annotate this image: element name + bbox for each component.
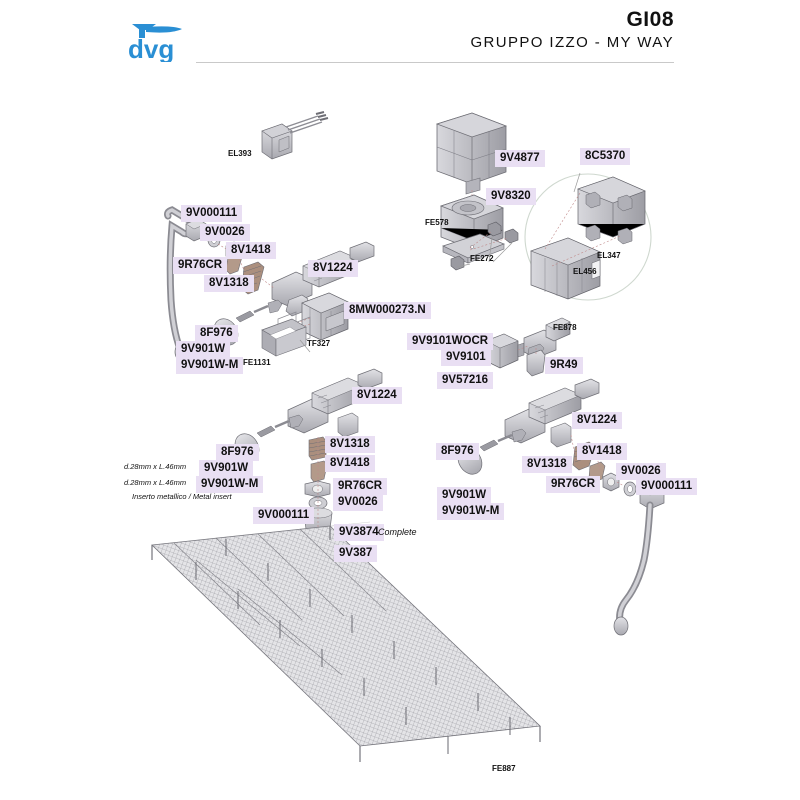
part-8mw000273n — [302, 293, 348, 340]
label-8v1224-center: 8V1224 — [352, 387, 402, 404]
label-9r76cr-top: 9R76CR — [173, 257, 227, 274]
part-el393 — [262, 112, 328, 159]
label-9v0026-top: 9V0026 — [200, 224, 250, 241]
header-divider — [196, 62, 674, 63]
label-8v1418-top: 8V1418 — [226, 242, 276, 259]
label-9v901w-top: 9V901W — [176, 341, 230, 358]
label-fe1131: FE1131 — [243, 358, 271, 368]
label-8v1418-center: 8V1418 — [325, 455, 375, 472]
label-8f976-center: 8F976 — [216, 444, 259, 461]
label-fe272: FE272 — [470, 254, 494, 264]
label-tf327: TF327 — [307, 339, 330, 349]
part-fe1131-frame — [262, 319, 306, 356]
label-9v901w-center: 9V901W — [199, 460, 253, 477]
label-9v000111-right: 9V000111 — [636, 478, 697, 495]
parts-diagram-sheet: dvg GI08 GRUPPO IZZO - MY WAY — [0, 0, 800, 800]
label-9v000111-center: 9V000111 — [253, 507, 314, 524]
label-9v387: 9V387 — [334, 545, 377, 562]
label-9v8320: 9V8320 — [486, 188, 536, 205]
svg-text:dvg: dvg — [128, 34, 174, 62]
part-9v901w-hose-left — [168, 210, 195, 361]
label-9r49: 9R49 — [545, 357, 583, 374]
label-9v4877: 9V4877 — [495, 150, 545, 167]
label-fe878: FE878 — [553, 323, 577, 333]
detail-circle-8c5370 — [525, 174, 651, 300]
part-el347 — [578, 177, 645, 244]
part-9v0026-washer-right — [624, 482, 636, 496]
label-9v000111-top: 9V000111 — [181, 205, 242, 222]
dvg-logo: dvg — [126, 18, 200, 62]
label-9v57216: 9V57216 — [437, 372, 493, 389]
label-8v1224-right: 8V1224 — [572, 412, 622, 429]
label-8v1318-top: 8V1318 — [204, 275, 254, 292]
label-el347: EL347 — [597, 251, 621, 261]
label-9v9101: 9V9101 — [441, 349, 491, 366]
label-fe887: FE887 — [492, 764, 516, 774]
label-8f976-right: 8F976 — [436, 443, 479, 460]
label-9v9101wocr: 9V9101WOCR — [407, 333, 493, 350]
label-fe578: FE578 — [425, 218, 449, 228]
part-9v3874-stem — [313, 531, 324, 552]
label-dimension-2: d.28mm x L.46mm — [124, 478, 186, 488]
label-8v1418-right: 8V1418 — [577, 443, 627, 460]
label-8f976-top: 8F976 — [195, 325, 238, 342]
label-8v1224-top: 8V1224 — [308, 260, 358, 277]
part-9r49-cap — [527, 350, 545, 376]
label-9v901wm-center: 9V901W-M — [196, 476, 263, 493]
label-8v1318-center: 8V1318 — [325, 436, 375, 453]
label-9r76cr-center: 9R76CR — [333, 478, 387, 495]
label-9v0026-center: 9V0026 — [333, 494, 383, 511]
label-9v901wm-right: 9V901W-M — [437, 503, 504, 520]
part-9r76cr-nut-center — [305, 481, 330, 497]
label-9r76cr-right: 9R76CR — [546, 476, 600, 493]
page-subtitle: GRUPPO IZZO - MY WAY — [470, 34, 674, 51]
page-title: GI08 — [626, 8, 674, 32]
part-9v387-nozzle — [309, 547, 328, 575]
label-8c5370: 8C5370 — [580, 148, 630, 165]
label-el393: EL393 — [228, 149, 252, 159]
label-dimension-1: d.28mm x L.46mm — [124, 462, 186, 472]
label-el456: EL456 — [573, 267, 597, 277]
label-9v901w-right: 9V901W — [437, 487, 491, 504]
part-9v901w-hose-right — [614, 505, 650, 635]
label-complete: Complete — [378, 527, 417, 538]
label-8v1318-right: 8V1318 — [522, 456, 572, 473]
label-9v901wm-top: 9V901W-M — [176, 357, 243, 374]
label-8mw000273n: 8MW000273.N — [344, 302, 431, 319]
part-tf327-gaskets — [278, 312, 310, 345]
part-8v1318-spring-center — [309, 437, 326, 460]
label-metal-insert: Inserto metallico / Metal insert — [132, 492, 232, 502]
label-9v3874: 9V3874 — [334, 524, 384, 541]
